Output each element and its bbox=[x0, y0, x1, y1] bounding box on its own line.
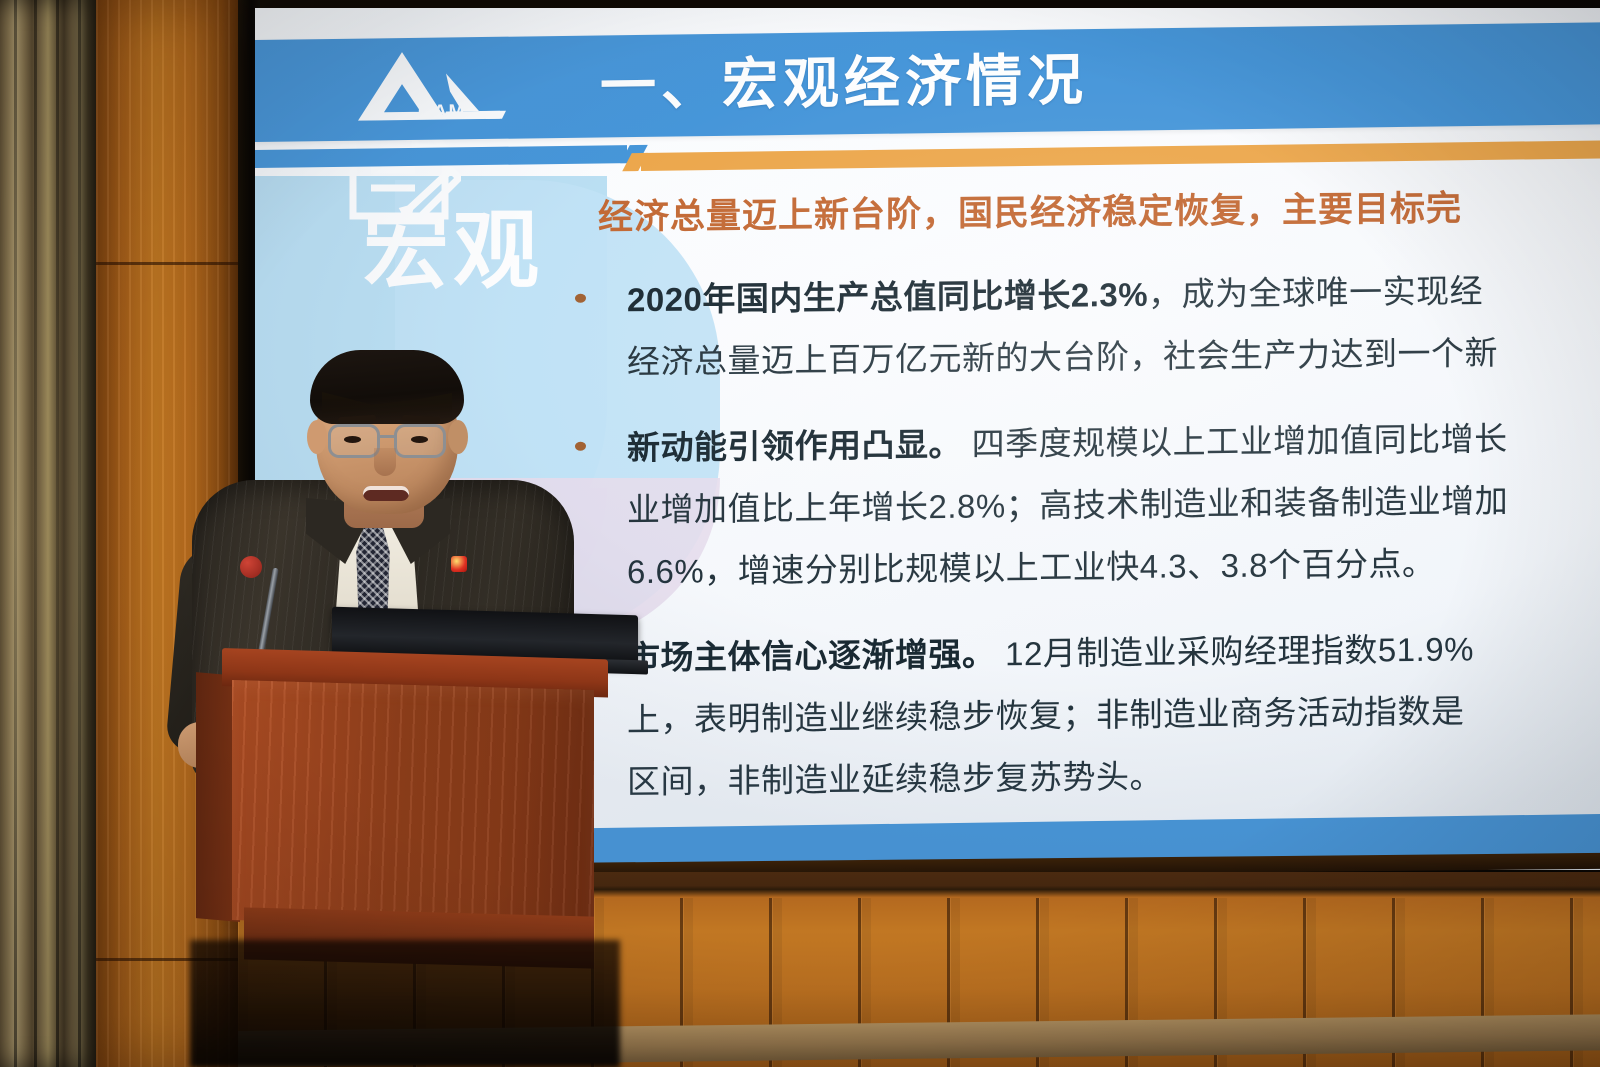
bullet-line: 四季度规模以上工业增加值同比增长 bbox=[962, 420, 1508, 463]
curtain-fold bbox=[78, 0, 81, 1067]
bullet-item: 新动能引领作用凸显。 四季度规模以上工业增加值同比增长 业增加值比上年增长2.8… bbox=[555, 404, 1600, 604]
bullet-line: 业增加值比上年增长2.8%；高技术制造业和装备制造业增加 bbox=[627, 466, 1600, 541]
speaker-eye bbox=[411, 436, 428, 443]
bullet-line: 区间，非制造业延续稳步复苏势头。 bbox=[627, 738, 1600, 813]
accent-bar-orange bbox=[641, 139, 1600, 171]
bullet-line: 12月制造业采购经理指数51.9% bbox=[996, 630, 1474, 672]
speaker-nose bbox=[374, 448, 396, 476]
speaker-eye bbox=[344, 436, 361, 443]
speaker-mouth bbox=[363, 486, 409, 501]
bullet-line: 上，表明制造业继续稳步恢复；非制造业商务活动指数是 bbox=[627, 676, 1600, 751]
bullet-line: 6.6%，增速分别比规模以上工业快4.3、3.8个百分点。 bbox=[627, 528, 1600, 603]
bullet-text: 新动能引领作用凸显。 四季度规模以上工业增加值同比增长 业增加值比上年增长2.8… bbox=[627, 404, 1600, 603]
bullet-item: 市场主体信心逐渐增强。 12月制造业采购经理指数51.9% 上，表明制造业继续稳… bbox=[555, 614, 1600, 814]
bullet-item: 2020年国内生产总值同比增长2.3%，成为全球唯一实现经 经济总量迈上百万亿元… bbox=[555, 256, 1600, 394]
eyeglasses-bridge bbox=[379, 435, 396, 438]
speaker-ear bbox=[448, 420, 468, 454]
slide-subtitle: 经济总量迈上新台阶，国民经济稳定恢复，主要目标完 bbox=[598, 187, 1462, 240]
svg-text:CAM: CAM bbox=[418, 101, 466, 123]
bullet-lead: 新动能引领作用凸显。 bbox=[627, 426, 962, 467]
curtain-fold bbox=[14, 0, 17, 1067]
bullet-text: 2020年国内生产总值同比增长2.3%，成为全球唯一实现经 经济总量迈上百万亿元… bbox=[627, 256, 1600, 393]
bullet-line: 经济总量迈上百万亿元新的大台阶，社会生产力达到一个新 bbox=[627, 318, 1600, 393]
wood-panel-seam bbox=[96, 262, 238, 265]
speaker-hair bbox=[310, 350, 464, 424]
curtain-fold bbox=[34, 0, 37, 1067]
bullet-lead: 2020年国内生产总值同比增长2.3% bbox=[627, 276, 1148, 318]
lapel-pin-icon bbox=[451, 556, 467, 572]
podium-front-panel bbox=[232, 680, 594, 930]
cam-mountain-logo-icon: CAM bbox=[350, 43, 510, 133]
slide-bullet-list: 2020年国内生产总值同比增长2.3%，成为全球唯一实现经 经济总量迈上百万亿元… bbox=[555, 270, 1600, 838]
conference-photo-scene: 宏观 CAM 一、宏观经济情况 经济总量迈上新台阶，国民经济稳定恢复，主要目标完… bbox=[0, 0, 1600, 1067]
accent-bar-blue bbox=[255, 145, 627, 168]
slide-title-banner-content: CAM 一、宏观经济情况 bbox=[255, 21, 1600, 142]
microphone-icon bbox=[240, 556, 262, 578]
curtain-fold bbox=[56, 0, 59, 1067]
watermark-character: 宏观 bbox=[363, 208, 543, 294]
slide-title: 一、宏观经济情况 bbox=[600, 37, 1088, 129]
podium-shadow bbox=[190, 940, 620, 1067]
bullet-line: ，成为全球唯一实现经 bbox=[1148, 272, 1483, 313]
bullet-lead: 市场主体信心逐渐增强。 bbox=[627, 635, 996, 676]
speaker-ear bbox=[307, 420, 327, 454]
bullet-text: 市场主体信心逐渐增强。 12月制造业采购经理指数51.9% 上，表明制造业继续稳… bbox=[627, 614, 1600, 813]
bullet-dot-icon bbox=[575, 294, 586, 303]
